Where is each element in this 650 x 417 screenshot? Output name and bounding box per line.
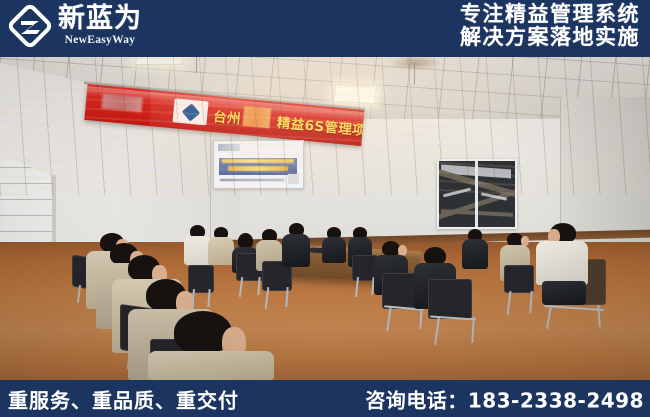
office-chair-empty	[188, 265, 218, 309]
attendee-person	[536, 223, 590, 305]
site-footer: 重服务、重品质、重交付 咨询电话：183-2338-2498	[0, 380, 650, 417]
attendee-person	[322, 227, 348, 263]
footer-phone-number[interactable]: 183-2338-2498	[468, 388, 644, 412]
brand-name-en: NewEasyWay	[58, 35, 142, 47]
office-chair	[262, 261, 296, 309]
floor-light-reflection	[150, 57, 570, 195]
slogan-line-2: 解决方案落地实施	[460, 26, 640, 49]
attendee-person-foreground	[148, 311, 278, 380]
attendee-person	[462, 229, 490, 269]
brand-logo-text: 新蓝为 NewEasyWay	[58, 5, 142, 47]
attendee-person	[282, 223, 312, 267]
office-chair	[428, 279, 482, 345]
slogan-line-1: 专注精益管理系统	[460, 3, 640, 26]
page-root: 新蓝为 NewEasyWay 专注精益管理系统 解决方案落地实施	[0, 0, 650, 417]
header-slogan: 专注精益管理系统 解决方案落地实施	[460, 3, 640, 48]
site-header: 新蓝为 NewEasyWay 专注精益管理系统 解决方案落地实施	[0, 0, 650, 57]
brand-logo[interactable]: 新蓝为 NewEasyWay	[8, 4, 142, 48]
footer-tagline: 重服务、重品质、重交付	[8, 384, 239, 413]
neweasyway-diamond-logo-icon	[8, 4, 52, 48]
footer-contact[interactable]: 咨询电话：183-2338-2498	[365, 384, 644, 413]
meeting-room-photo: 台州 精益6S管理项目启动大会	[0, 57, 650, 380]
office-chair	[504, 265, 540, 315]
brand-name-cn: 新蓝为	[58, 5, 142, 32]
footer-contact-label: 咨询电话：	[365, 388, 468, 412]
